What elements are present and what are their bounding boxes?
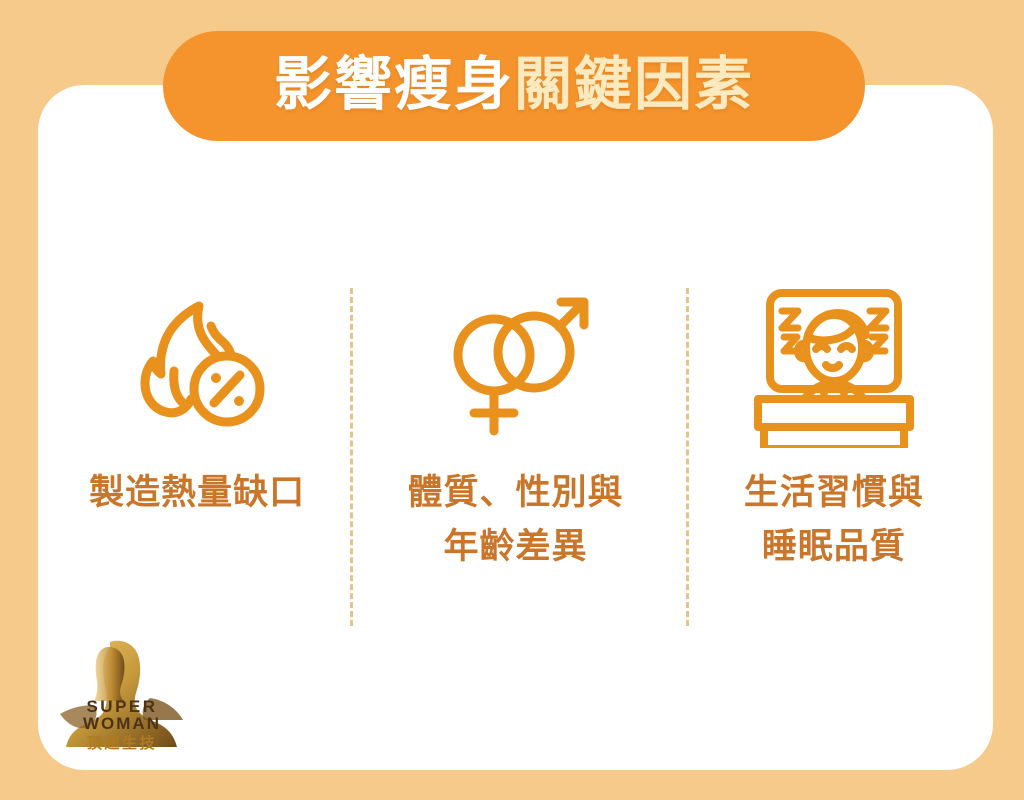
factor-columns: 製造熱量缺口 <box>38 270 993 640</box>
factor-caption-2: 體質、性別與 年齡差異 <box>407 466 623 575</box>
super-woman-logo: SUPER WOMAN 頂超生技 <box>58 636 186 754</box>
page-title-part-b: 關鍵因素 <box>514 50 754 118</box>
flame-percent-icon <box>117 270 277 460</box>
page-title-part-a: 影響瘦身 <box>274 50 514 118</box>
logo-line-chinese: 頂超生技 <box>87 734 157 752</box>
title-banner: 影響瘦身關鍵因素 <box>163 31 865 141</box>
factor-caption-3-line1: 生活習慣與 <box>744 466 924 520</box>
page-title: 影響瘦身關鍵因素 <box>274 55 754 113</box>
factor-column-1: 製造熱量缺口 <box>38 270 356 520</box>
factor-column-3: 生活習慣與 睡眠品質 <box>675 270 993 575</box>
factor-caption-2-line2: 年齡差異 <box>407 520 623 574</box>
logo-line-woman: WOMAN <box>83 714 161 733</box>
factor-caption-3-line2: 睡眠品質 <box>744 520 924 574</box>
gender-symbols-icon <box>430 270 600 460</box>
poster-root: 影響瘦身關鍵因素 <box>0 0 1024 800</box>
factor-caption-1-line1: 製造熱量缺口 <box>89 466 305 520</box>
sleeping-person-bed-icon <box>744 270 924 460</box>
factor-caption-2-line1: 體質、性別與 <box>407 466 623 520</box>
factor-column-2: 體質、性別與 年齡差異 <box>356 270 674 575</box>
factor-caption-1: 製造熱量缺口 <box>89 466 305 520</box>
factor-caption-3: 生活習慣與 睡眠品質 <box>744 466 924 575</box>
